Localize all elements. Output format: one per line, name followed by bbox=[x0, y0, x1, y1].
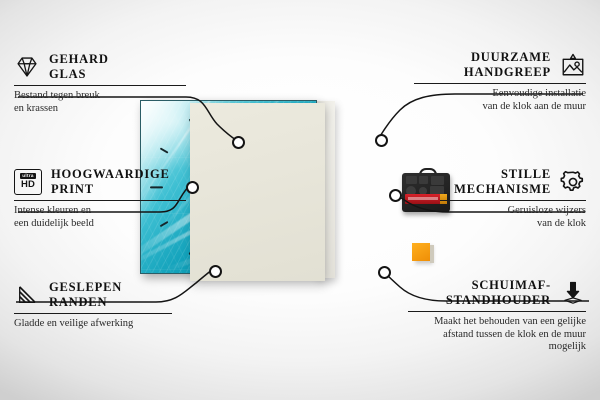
divider bbox=[14, 313, 172, 314]
gear-icon bbox=[560, 169, 586, 195]
feature-gehard-glas[interactable]: GEHARD GLAS Bestand tegen breuk en krass… bbox=[14, 52, 186, 115]
picture-hanger-icon bbox=[560, 52, 586, 78]
feature-title-line1: STILLE bbox=[454, 167, 551, 182]
clock-tick bbox=[160, 147, 169, 153]
feature-desc-line2: afstand tussen de klok en de muur mogeli… bbox=[408, 329, 586, 354]
feature-stille-mechanisme[interactable]: STILLE MECHANISME Geruisloze wijzers van… bbox=[440, 167, 586, 230]
anchor-hoogwaardige-print[interactable] bbox=[186, 181, 199, 194]
infographic-canvas: GEHARD GLAS Bestand tegen breuk en krass… bbox=[0, 0, 600, 400]
feature-geslepen-randen[interactable]: GESLEPEN RANDEN Gladde en veilige afwerk… bbox=[14, 280, 172, 331]
feature-title-line2: RANDEN bbox=[49, 295, 122, 310]
feature-desc-line1: Intense kleuren en bbox=[14, 205, 186, 218]
clock-back-panel bbox=[190, 103, 325, 281]
feature-hoogwaardige-print[interactable]: ultra HD HOOGWAARDIGE PRINT Intense kleu… bbox=[14, 167, 186, 230]
anchor-gehard-glas[interactable] bbox=[232, 136, 245, 149]
feature-title-line1: GESLEPEN bbox=[49, 280, 122, 295]
divider bbox=[14, 85, 186, 86]
divider bbox=[408, 311, 586, 312]
feature-desc-line1: Gladde en veilige afwerking bbox=[14, 318, 172, 331]
feature-title-line2: GLAS bbox=[49, 67, 109, 82]
feature-desc-line1: Maakt het behouden van een gelijke bbox=[408, 316, 586, 329]
anchor-geslepen-randen[interactable] bbox=[209, 265, 222, 278]
feature-desc-line2: een duidelijk beeld bbox=[14, 218, 186, 231]
feature-desc-line2: en krassen bbox=[14, 103, 186, 116]
feature-title-line1: SCHUIMAF- bbox=[446, 278, 551, 293]
feature-title-line1: HOOGWAARDIGE bbox=[51, 167, 170, 182]
beveled-edges-icon bbox=[14, 282, 40, 308]
foam-spacer bbox=[412, 243, 430, 261]
divider bbox=[440, 200, 586, 201]
diamond-icon bbox=[14, 54, 40, 80]
feature-desc-line2: van de klok aan de muur bbox=[414, 101, 586, 114]
feature-title-line2: PRINT bbox=[51, 182, 170, 197]
anchor-duurzame-handgreep[interactable] bbox=[375, 134, 388, 147]
ultra-hd-main-label: HD bbox=[21, 180, 35, 190]
anchor-stille-mechanisme[interactable] bbox=[389, 189, 402, 202]
feature-title-line1: DUURZAME bbox=[464, 50, 551, 65]
divider bbox=[14, 200, 186, 201]
feature-desc-line1: Eenvoudige installatie bbox=[414, 88, 586, 101]
feature-desc-line1: Bestand tegen breuk bbox=[14, 90, 186, 103]
feature-desc-line2: van de klok bbox=[440, 218, 586, 231]
divider bbox=[414, 83, 586, 84]
feature-desc-line1: Geruisloze wijzers bbox=[440, 205, 586, 218]
feature-duurzame-handgreep[interactable]: DUURZAME HANDGREEP Eenvoudige installati… bbox=[414, 50, 586, 113]
anchor-schuimafstandhouder[interactable] bbox=[378, 266, 391, 279]
ultra-hd-icon: ultra HD bbox=[14, 169, 42, 195]
feature-schuimafstandhouder[interactable]: SCHUIMAF- STANDHOUDER Maakt het behouden… bbox=[408, 278, 586, 354]
feature-title-line2: MECHANISME bbox=[454, 182, 551, 197]
spacer-arrow-icon bbox=[560, 280, 586, 306]
feature-title-line2: STANDHOUDER bbox=[446, 293, 551, 308]
feature-title-line2: HANDGREEP bbox=[464, 65, 551, 80]
feature-title-line1: GEHARD bbox=[49, 52, 109, 67]
